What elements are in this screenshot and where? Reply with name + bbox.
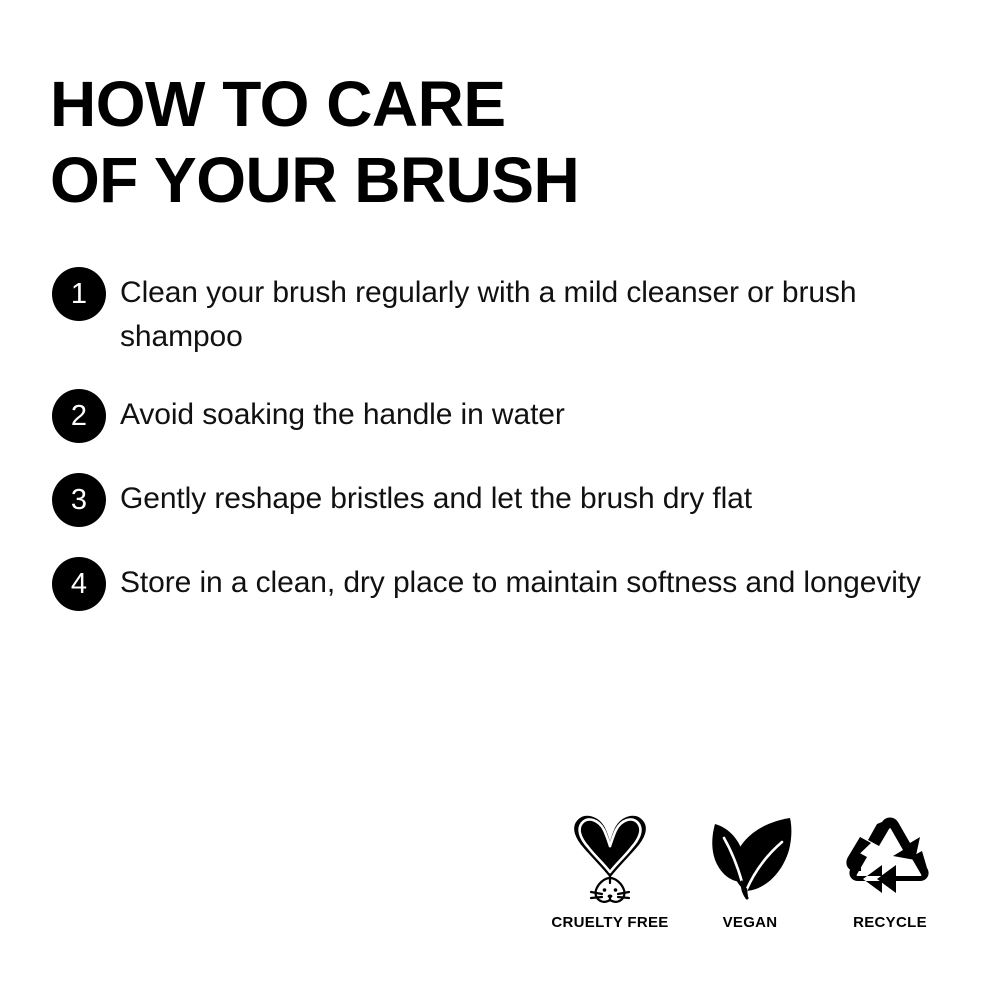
care-steps-list: 1 Clean your brush regularly with a mild… xyxy=(52,268,952,611)
step-text: Clean your brush regularly with a mild c… xyxy=(120,268,952,359)
page-title-line-1: HOW TO CARE xyxy=(50,66,930,142)
care-instructions-card: HOW TO CARE OF YOUR BRUSH 1 Clean your b… xyxy=(0,0,1000,1000)
list-item: 3 Gently reshape bristles and let the br… xyxy=(52,474,952,527)
step-text: Avoid soaking the handle in water xyxy=(120,390,952,437)
step-text: Store in a clean, dry place to maintain … xyxy=(120,558,952,605)
recycle-icon xyxy=(841,812,939,904)
cruelty-free-bunny-heart-icon xyxy=(558,812,662,904)
certification-badges: CRUELTY FREE VEGAN xyxy=(540,812,960,931)
page-title-line-2: OF YOUR BRUSH xyxy=(50,142,930,218)
step-number-badge: 1 xyxy=(52,267,106,321)
certification-label: CRUELTY FREE xyxy=(551,914,668,931)
step-number-badge: 4 xyxy=(52,557,106,611)
certification-label: VEGAN xyxy=(723,914,778,931)
step-number-badge: 2 xyxy=(52,389,106,443)
list-item: 1 Clean your brush regularly with a mild… xyxy=(52,268,952,359)
step-number-badge: 3 xyxy=(52,473,106,527)
certification-recycle: RECYCLE xyxy=(820,812,960,931)
vegan-leaves-icon xyxy=(702,812,798,904)
certification-vegan: VEGAN xyxy=(680,812,820,931)
list-item: 4 Store in a clean, dry place to maintai… xyxy=(52,558,952,611)
list-item: 2 Avoid soaking the handle in water xyxy=(52,390,952,443)
step-text: Gently reshape bristles and let the brus… xyxy=(120,474,952,521)
certification-label: RECYCLE xyxy=(853,914,927,931)
certification-cruelty-free: CRUELTY FREE xyxy=(540,812,680,931)
page-title: HOW TO CARE OF YOUR BRUSH xyxy=(50,66,930,218)
